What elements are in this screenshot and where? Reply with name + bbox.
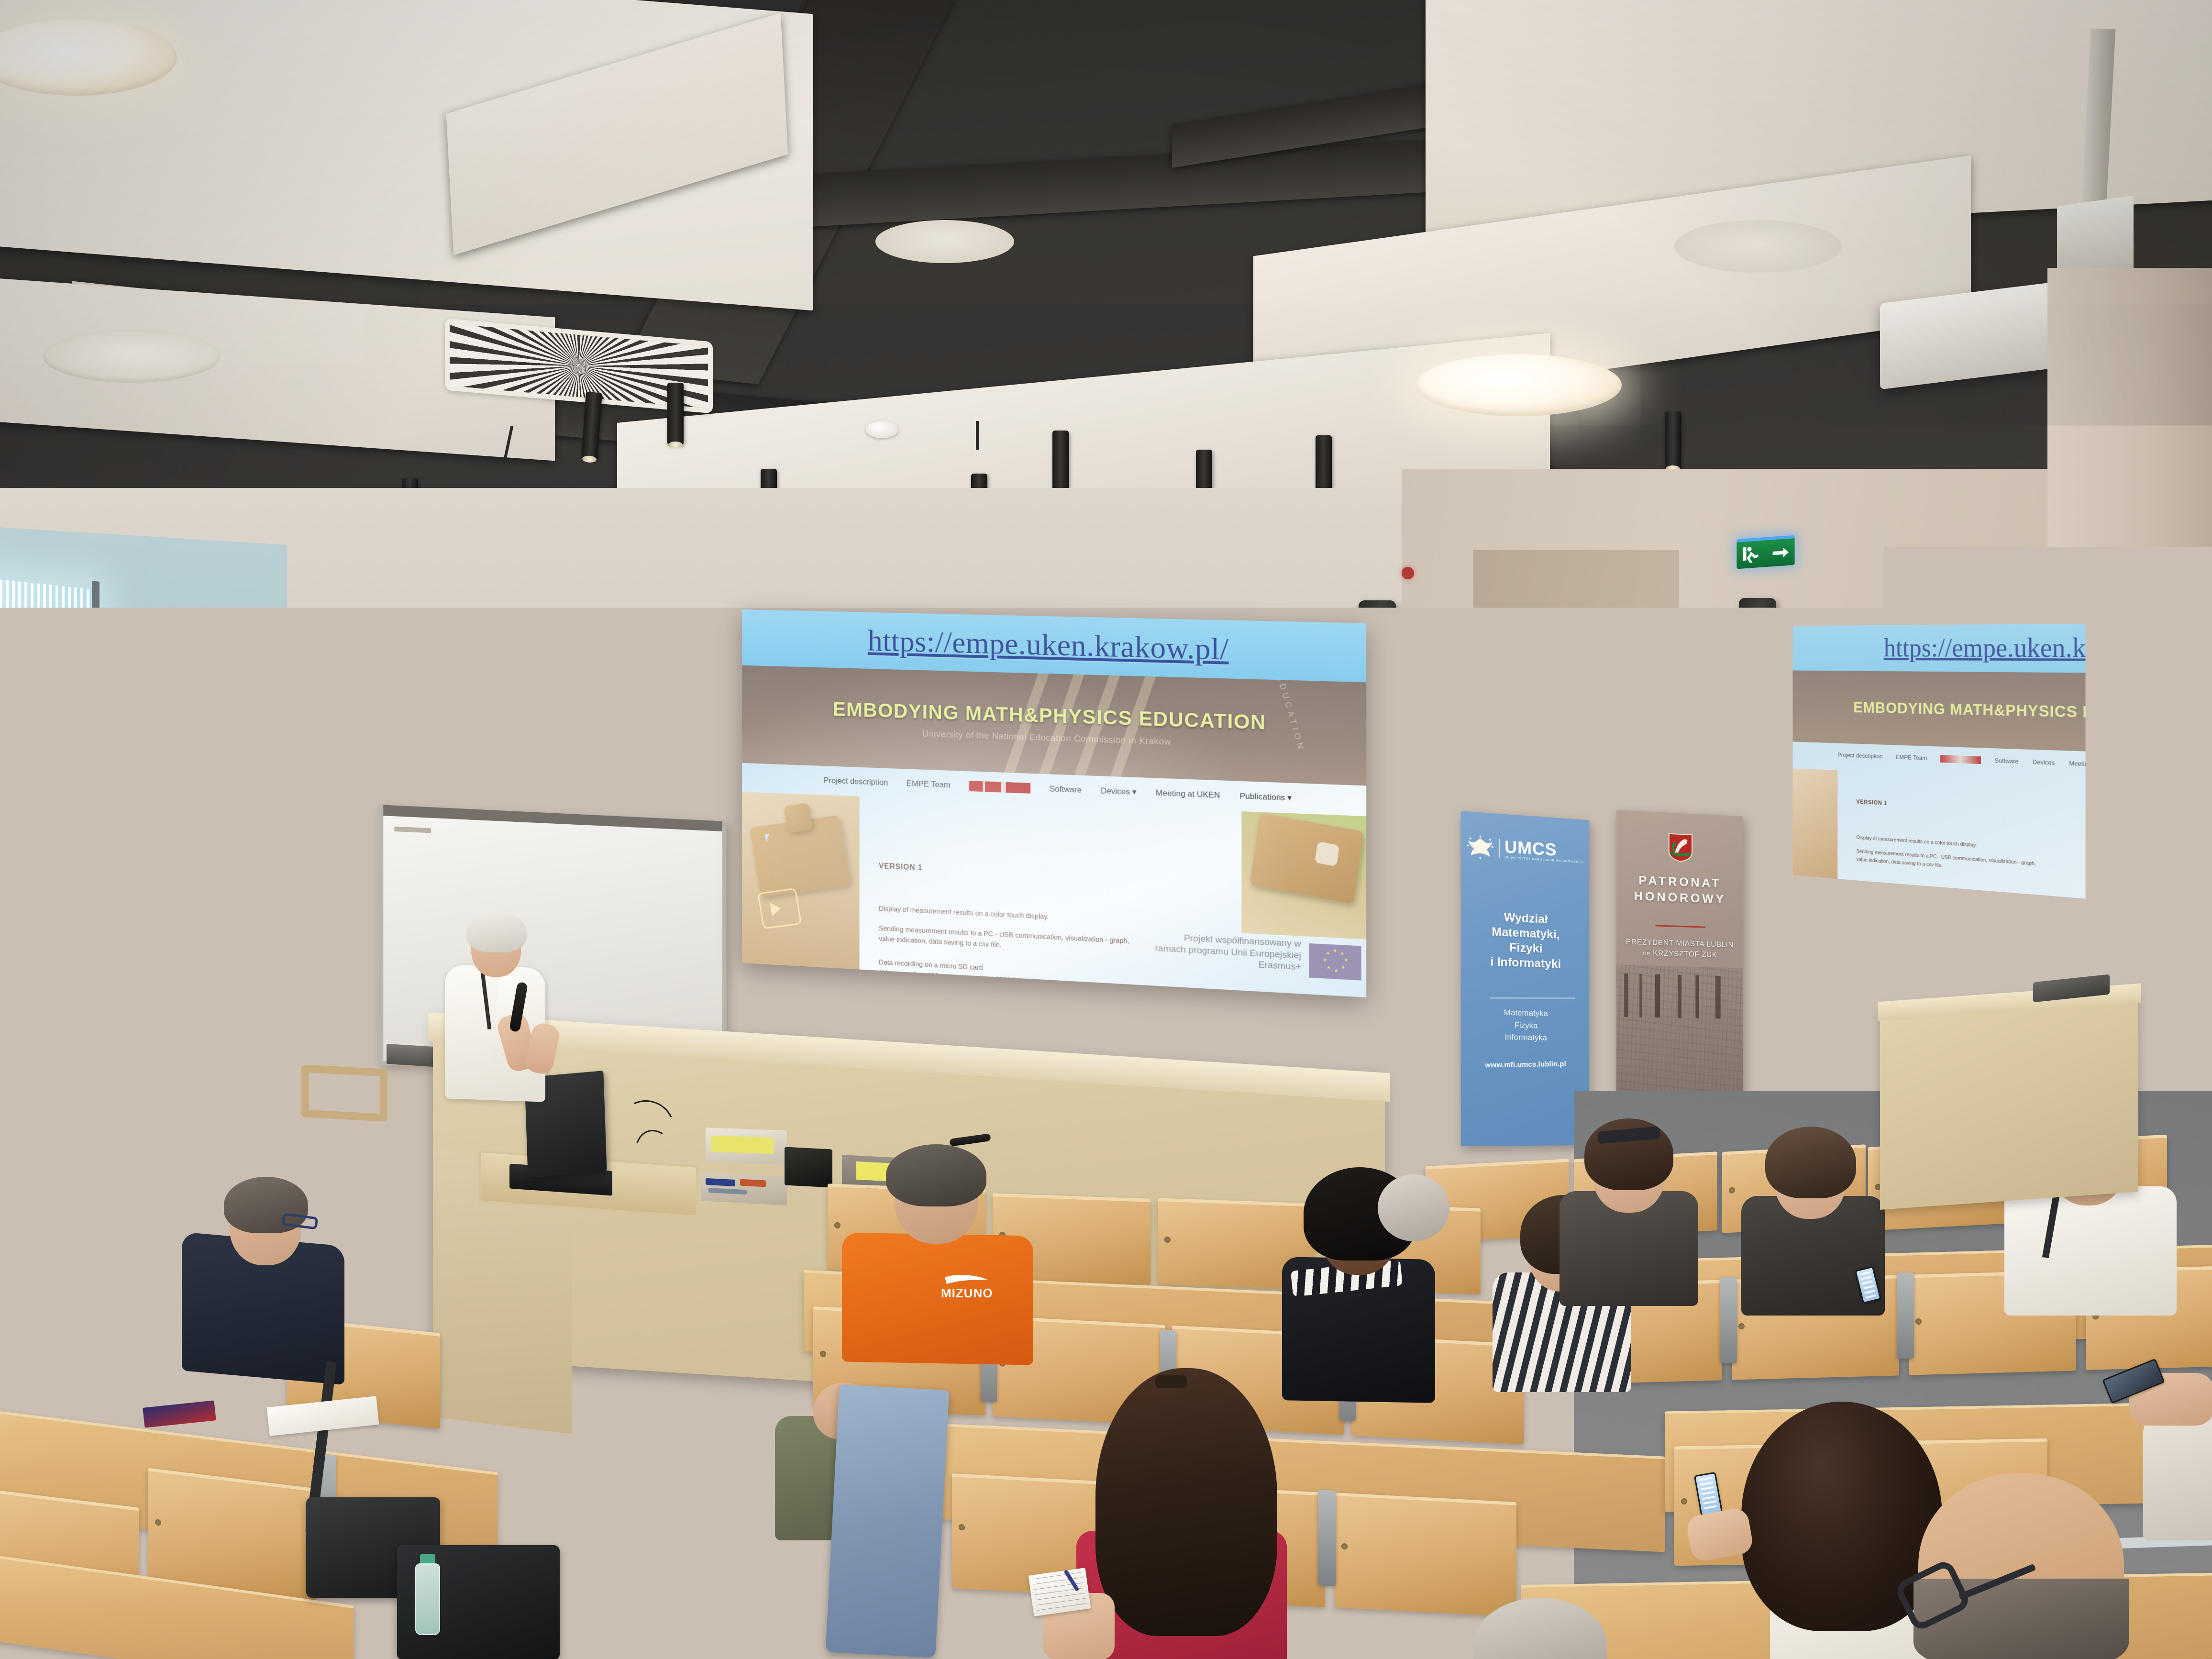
wall-speaker [1741,667,1779,734]
pendant-spotlight [1052,431,1069,493]
eu-stars: ★★ ★★ ★★ ★★ [1322,949,1349,975]
pen-grey[interactable] [708,1188,747,1194]
audience-member-torso [2004,1186,2177,1316]
flag-strip-icon[interactable] [969,781,1030,794]
pendant-spotlight [1665,411,1681,469]
window-mullion [92,581,100,1103]
exit-sign-wyjscie: WYJŚCIE EWAKUACYJNE [253,782,318,820]
nav-item-devices[interactable]: Devices [2033,758,2055,767]
slide-funding-note: Projekt współfinansowany w ramach progra… [1155,931,1301,973]
nav-item-project-description[interactable]: Project description [824,776,888,788]
svg-text:MIZUNO: MIZUNO [941,1286,993,1300]
ceiling-light [1416,354,1622,416]
slide-site-title-secondary: EMBODYING MATH&PHYSICS EDUCATIO [1853,698,2085,723]
nav-item-software[interactable]: Software [1050,784,1082,795]
wall-speaker [1739,598,1776,665]
phone-screen-content [1860,1271,1876,1299]
eu-flag-icon: ★★ ★★ ★★ ★★ [1309,943,1361,981]
slide-content: https://empe.uken.krakow.pl/ EMBODYING M… [742,609,1366,997]
nav-item-meeting-at-uken[interactable]: Meeting at UKEN [1156,788,1220,800]
slide-paragraph-1: Display of measurement results on a colo… [879,904,1049,923]
slide-nav-secondary: Project description EMPE Team Software D… [1837,752,2085,770]
wall-projector-mount [541,717,593,746]
presenter-hair [466,911,527,952]
slide-version-label-secondary: VERSION 1 [1857,798,1888,807]
umcs-eagle-icon [1467,835,1494,860]
wall-clock: 12 3 6 9 [672,729,731,786]
hair-clip [1155,1375,1187,1388]
projection-screen: https://empe.uken.krakow.pl/ EMBODYING M… [742,609,1366,997]
field-computer-science: Informatyka [1461,1030,1590,1044]
seat-armrest [1720,1277,1737,1363]
chevron-down-icon: ▾ [1287,793,1292,803]
slide-url-text-secondary: https://empe.uken.krako [1884,632,2086,664]
nav-item-publications[interactable]: Publications ▾ [1239,791,1292,803]
nav-item-empe-team[interactable]: EMPE Team [1896,753,1927,762]
patronat-divider [1655,925,1705,928]
audience-member-hair [886,1144,986,1206]
table-leg [407,1196,413,1277]
door-handle[interactable] [165,985,172,1014]
window [0,577,96,1106]
nav-item-devices[interactable]: Devices ▾ [1101,786,1136,797]
umcs-wordmark: UMCS UNIWERSYTET MARII CURIE-SKŁODOWSKIE… [1504,838,1583,864]
banner-divider [1490,997,1575,998]
notebook[interactable] [1029,1568,1091,1616]
audience-member-hair [1095,1368,1277,1636]
projection-clip: https://empe.uken.krako EMBODYING MATH&P… [1792,624,2085,899]
logo-divider [1499,839,1500,858]
nav-item-software[interactable]: Software [1995,757,2019,765]
exit-sign-line2: EWAKUACYJNE [260,801,310,810]
wall-speaker [1361,670,1398,737]
ceiling-light [1674,220,1842,273]
slide-paragraph-2: Sending measurement results to a PC - US… [879,923,1144,959]
patronat-subtitle: PREZYDENT MIASTA LUBLIN DR KRZYSZTOF ŻUK [1616,937,1743,962]
umcs-fields-list: Matematyka Fizyka Informatyka [1461,1006,1590,1045]
arrow-right-icon [1772,546,1790,559]
waste-bin [120,1115,173,1182]
device-button-icon [1315,841,1339,867]
denim-jacket [826,1384,950,1658]
slide-paragraph-1-secondary: Display of measurement results on a colo… [1857,834,1977,850]
whiteboard-label [394,827,431,833]
phone-screen-content [1699,1477,1717,1511]
slide-url-text: https://empe.uken.krakow.pl/ [868,623,1229,667]
nav-item-meeting-at-uken[interactable]: Meeting at UKEN [2069,760,2085,769]
desk-supplies-tray [701,1172,787,1205]
water-bottle[interactable] [415,1563,440,1635]
emergency-exit-sign-2 [1736,535,1794,569]
chevron-down-icon: ▾ [1132,787,1137,796]
side-lectern [1880,986,2138,1210]
slide-url-bar-secondary: https://empe.uken.krako [1792,624,2085,675]
nav-item-project-description[interactable]: Project description [1837,752,1882,761]
audience-member-torso [2143,1416,2212,1540]
nav-item-empe-team[interactable]: EMPE Team [907,779,951,790]
slide-device-photo-right [1241,811,1366,940]
umcs-faculty-name: Wydział Matematyki, Fizyki i Informatyki [1461,908,1590,973]
pendant-spotlight [667,383,684,445]
patronat-dr-prefix: DR [1643,951,1650,957]
running-person-exit-icon [1742,545,1761,564]
seat-armrest [1318,1490,1336,1586]
clock-numerals: 12 3 6 9 [678,736,724,780]
black-box-device [785,1147,832,1187]
audience-member-head [1378,1174,1449,1241]
flag-strip-icon[interactable] [1940,755,1981,764]
pendant-rod [976,421,979,450]
slide-device-photo-left-secondary [1792,767,1837,879]
seat-back[interactable] [1335,1493,1516,1617]
umcs-website-url: www.mfi.umcs.lublin.pl [1461,1060,1590,1070]
seat-armrest [1897,1272,1914,1359]
device-knob [783,803,813,833]
wall-projector-lens [560,770,597,783]
slide-watermark-education: EDUCATION [1275,674,1306,753]
slide-version-label: VERSION 1 [879,862,922,873]
ceiling-light [43,330,220,383]
notebook-lines [1033,1572,1087,1612]
slide-body-secondary: Project description EMPE Team Software D… [1792,741,2085,899]
ceiling-light [875,220,1014,263]
audience-member-hair [1765,1127,1856,1198]
slide-paragraph-2-secondary: Sending measurement results to a PC - US… [1857,848,2045,878]
umcs-logo: UMCS UNIWERSYTET MARII CURIE-SKŁODOWSKIE… [1461,834,1590,865]
banner-umcs: UMCS UNIWERSYTET MARII CURIE-SKŁODOWSKIE… [1461,811,1590,1146]
mizuno-logo-icon: MIZUNO [926,1272,1007,1300]
pen-orange[interactable] [740,1179,766,1187]
lecture-hall-photo: WYJŚCIE EWAKUACYJNE 12 3 6 9 [0,0,2212,1659]
device-illustration [1250,813,1364,904]
slide-device-photo-left [742,792,859,970]
window-blinds [0,577,96,1106]
fire-alarm-icon [1402,567,1414,579]
lublin-city-crest-icon [1668,833,1693,863]
smoke-detector-icon [866,421,898,438]
projection-screen-secondary: https://empe.uken.krako EMBODYING MATH&P… [1792,622,2212,912]
pen-blue[interactable] [706,1178,735,1186]
slide-body: Project description EMPE Team Software D… [742,763,1366,997]
control-panel-label [711,1136,774,1154]
play-triangle-icon [770,902,782,916]
clock-face: 12 3 6 9 [676,733,727,782]
lublin-skyline-illustration [1616,973,1743,1019]
chair[interactable] [301,1064,387,1121]
slide-content-secondary: https://empe.uken.krako EMBODYING MATH&P… [1792,624,2085,899]
patronat-title: PATRONAT HONOROWY [1616,872,1743,907]
